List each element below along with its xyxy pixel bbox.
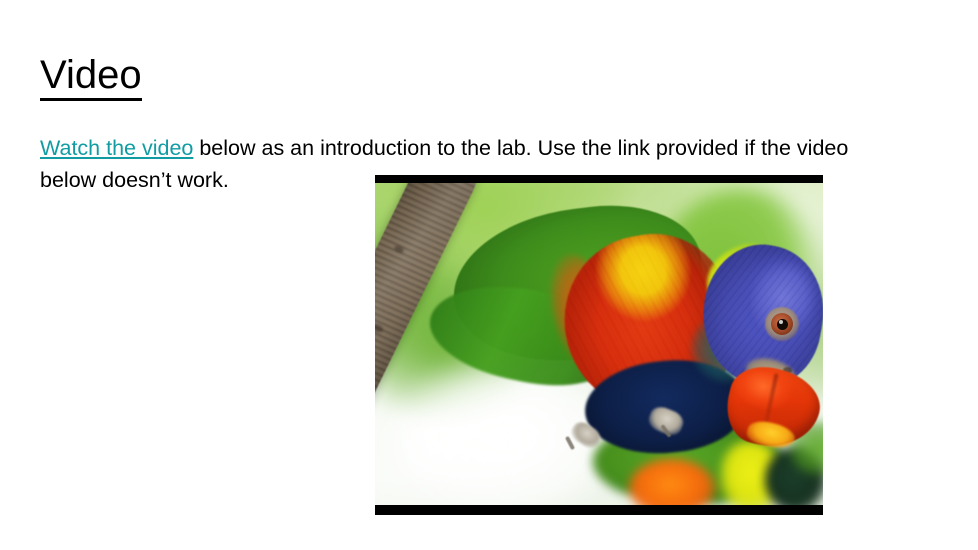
slide-canvas: Video Watch the video below as an introd… [0,0,978,550]
page-title: Video [40,52,142,98]
video-player[interactable] [375,175,823,515]
video-poster-image [375,183,823,506]
rainbow-lorikeet [453,201,813,471]
branch-texture-speck [393,244,405,254]
lorikeet-eye-highlight [779,320,783,324]
watch-the-video-link[interactable]: Watch the video [40,136,193,160]
branch-texture-speck [375,322,384,334]
letterbox-bottom-bar [375,505,823,515]
page-title-text: Video [40,53,142,101]
